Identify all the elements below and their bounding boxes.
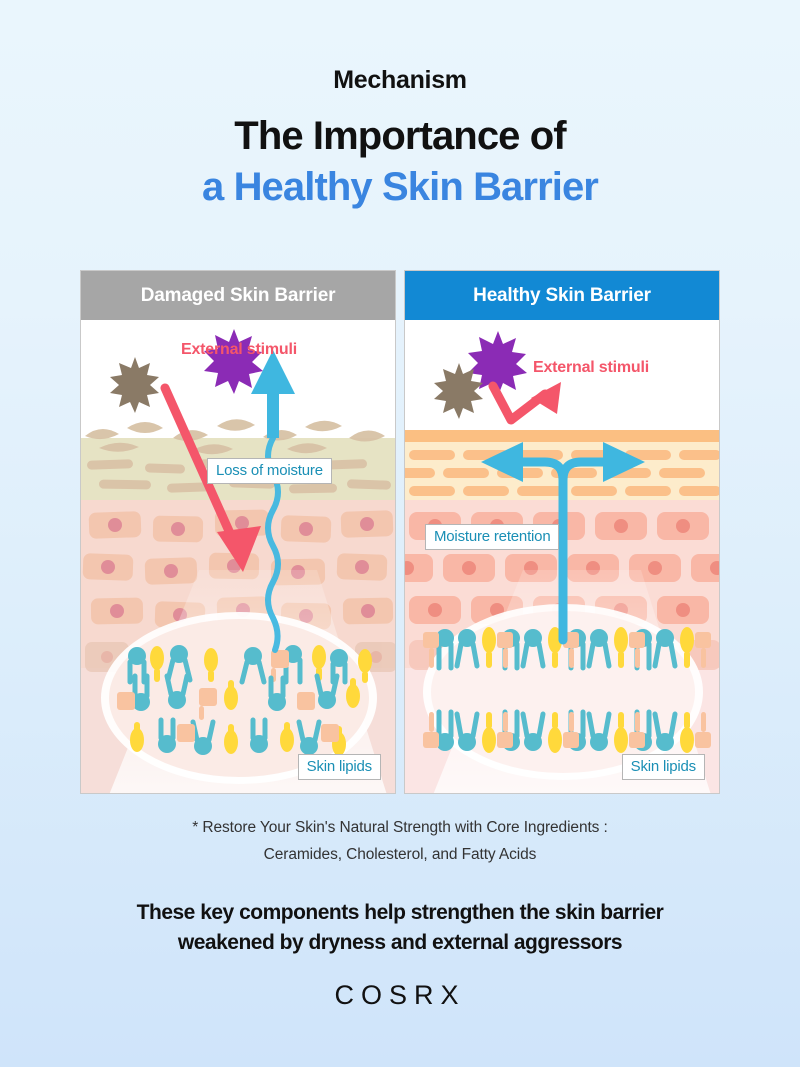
- closing-statement: These key components help strengthen the…: [0, 898, 800, 958]
- page-title-line2: a Healthy Skin Barrier: [0, 165, 800, 210]
- panel-damaged-illustration: External stimuli Loss of moisture Skin l…: [81, 320, 395, 793]
- healthy-skin-lipids-callout: Skin lipids: [622, 754, 705, 780]
- footnote-line2: Ceramides, Cholesterol, and Fatty Acids: [0, 841, 800, 868]
- damaged-skin-diagram: [81, 320, 395, 793]
- page-title-line1: The Importance of: [0, 114, 800, 159]
- healthy-external-stimuli-label: External stimuli: [533, 359, 649, 377]
- damaged-skin-lipids-callout: Skin lipids: [298, 754, 381, 780]
- footnote-line1: * Restore Your Skin's Natural Strength w…: [0, 814, 800, 841]
- stimuli-burst-purple: [204, 329, 263, 394]
- footnote: * Restore Your Skin's Natural Strength w…: [0, 814, 800, 868]
- page-header: Mechanism The Importance of a Healthy Sk…: [0, 0, 800, 210]
- eyebrow-label: Mechanism: [0, 66, 800, 95]
- healthy-moisture-callout: Moisture retention: [425, 524, 559, 550]
- closing-line2: weakened by dryness and external aggress…: [0, 928, 800, 958]
- damaged-moisture-callout: Loss of moisture: [207, 458, 332, 484]
- panel-healthy-illustration: External stimuli Moisture retention Skin…: [405, 320, 719, 793]
- panel-damaged-skin-barrier: Damaged Skin Barrier: [80, 270, 396, 794]
- panel-damaged-title: Damaged Skin Barrier: [81, 271, 395, 320]
- stimuli-burst-brown: [110, 357, 159, 413]
- damaged-external-stimuli-label: External stimuli: [181, 341, 297, 359]
- comparison-panels: Damaged Skin Barrier: [80, 270, 720, 794]
- panel-healthy-skin-barrier: Healthy Skin Barrier: [404, 270, 720, 794]
- brand-logo: COSRX: [0, 980, 800, 1011]
- panel-healthy-title: Healthy Skin Barrier: [405, 271, 719, 320]
- closing-line1: These key components help strengthen the…: [0, 898, 800, 928]
- healthy-skin-diagram: [405, 320, 719, 793]
